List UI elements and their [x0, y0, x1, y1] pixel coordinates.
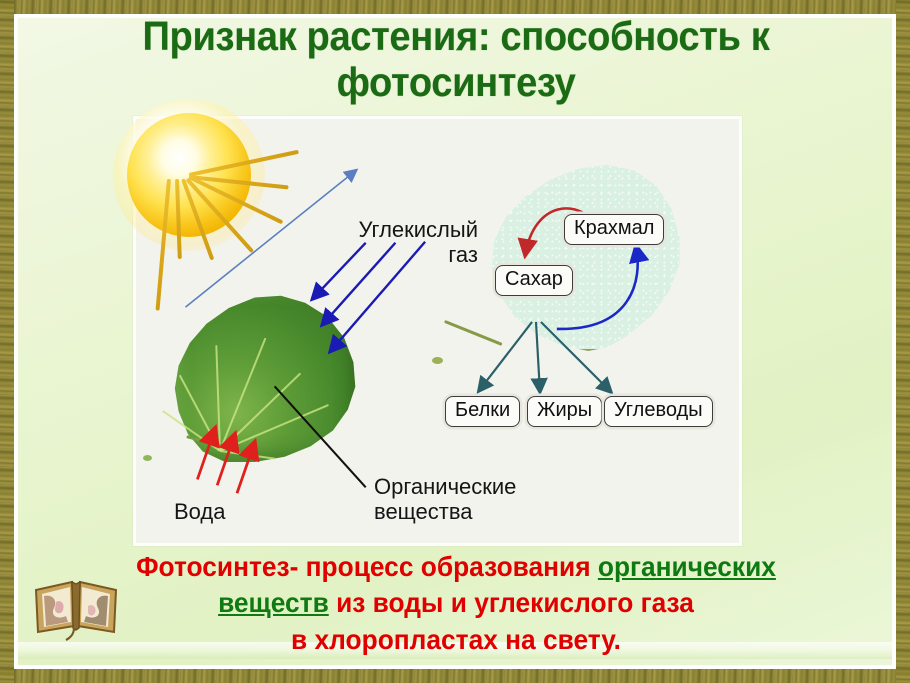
slide-title-line-1: Признак растения: способность к — [60, 14, 852, 60]
label-starch: Крахмал — [564, 214, 664, 245]
product-arrow-proteins — [479, 322, 532, 391]
caption-green-2: веществ — [218, 587, 329, 618]
water-arrow — [197, 428, 215, 479]
label-fats: Жиры — [527, 396, 602, 427]
frame-band-bottom — [0, 669, 910, 683]
product-arrow-carbs — [541, 322, 611, 392]
caption-text-2: из воды и углекислого газа — [329, 587, 694, 618]
slide-title-line-2: фотосинтезу — [60, 60, 852, 106]
caption-line-2: веществ из воды и углекислого газа — [54, 585, 859, 621]
product-arrow-fats — [536, 322, 540, 392]
water-arrow — [237, 442, 255, 493]
caption-text-1: Фотосинтез- процесс образования — [136, 551, 598, 582]
frame-band-right — [896, 0, 910, 683]
frame-band-top — [0, 0, 910, 14]
slide-caption: Фотосинтез- процесс образования органиче… — [54, 549, 859, 658]
water-arrow — [217, 434, 235, 485]
caption-line-3: в хлоропластах на свету. — [54, 622, 859, 658]
label-carbohydrates: Углеводы — [604, 396, 713, 427]
diagram-stage: Углекислый газ Вода Органические веществ… — [136, 119, 739, 543]
annotation-organic-substances: Органические вещества — [374, 474, 574, 524]
caption-line-1: Фотосинтез- процесс образования органиче… — [54, 549, 859, 585]
annotation-carbon-dioxide: Углекислый газ — [304, 217, 478, 267]
label-sugar: Сахар — [495, 265, 573, 296]
caption-green-1: органических — [598, 551, 776, 582]
frame-band-left — [0, 0, 14, 683]
annotation-water: Вода — [174, 499, 226, 524]
label-proteins: Белки — [445, 396, 520, 427]
diagram-panel: Углекислый газ Вода Органические веществ… — [133, 116, 742, 546]
organic-pointer-line — [275, 386, 366, 487]
open-book-icon — [28, 572, 124, 644]
slide-title: Признак растения: способность к фотосинт… — [60, 14, 852, 106]
slide-root: Признак растения: способность к фотосинт… — [0, 0, 910, 683]
